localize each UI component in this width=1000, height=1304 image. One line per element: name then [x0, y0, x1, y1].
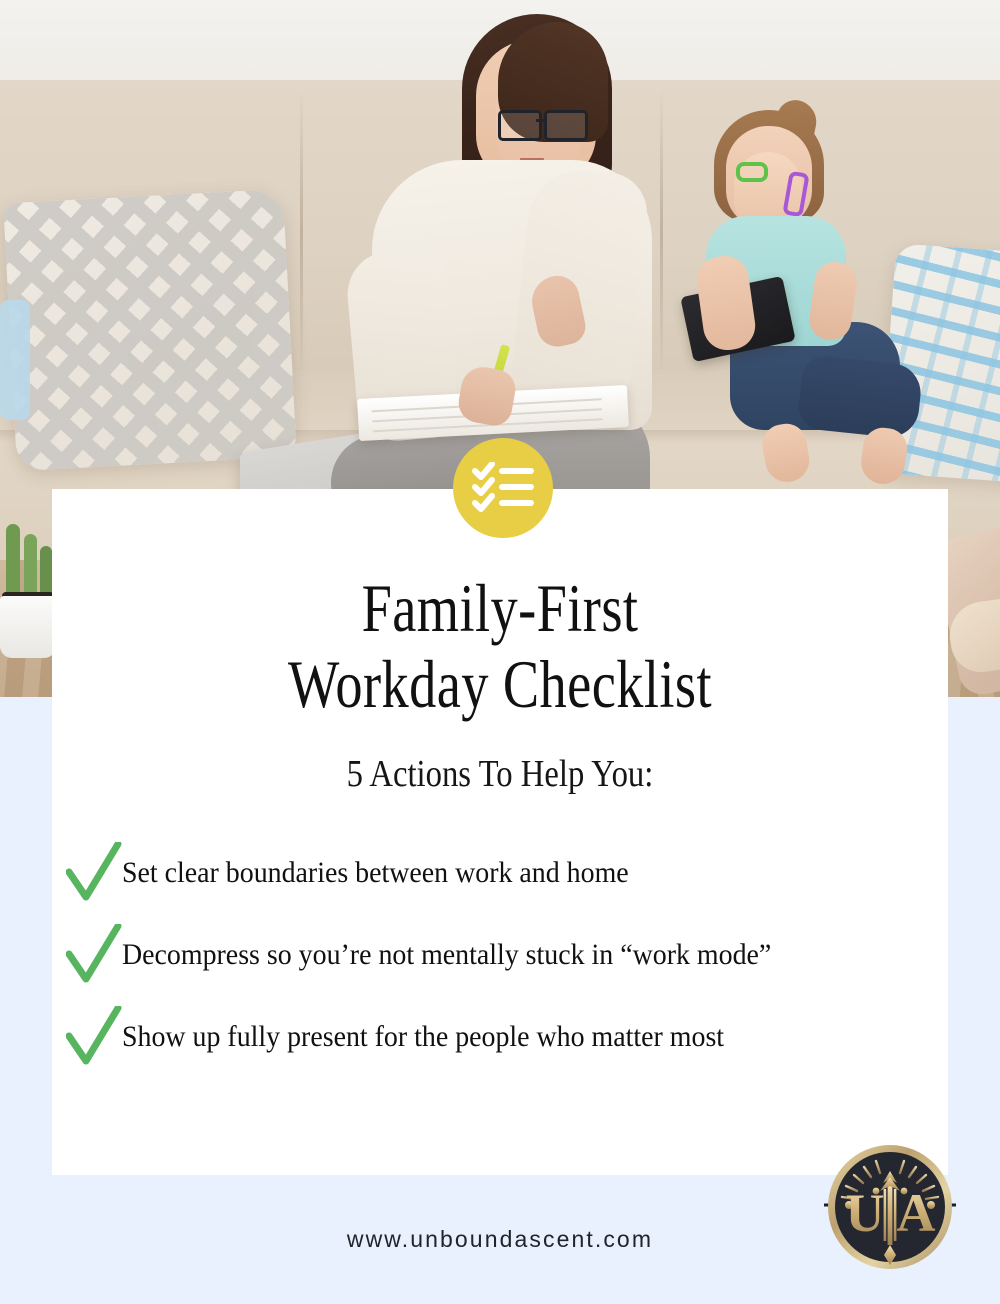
list-item: Show up fully present for the people who…: [66, 996, 952, 1078]
girl-jeans-lower: [796, 354, 923, 440]
eyeglasses-icon: [498, 110, 590, 136]
logo-letter-left: U: [846, 1183, 885, 1243]
chevron-pattern: [3, 189, 297, 471]
sofa-seam: [660, 88, 663, 378]
check-icon: [66, 842, 122, 904]
unbound-ascent-logo: U A: [824, 1139, 956, 1277]
list-item-label: Show up fully present for the people who…: [122, 1020, 724, 1054]
poster-canvas: Family-First Workday Checklist 5 Actions…: [0, 0, 1000, 1304]
checklist: Set clear boundaries between work and ho…: [66, 832, 952, 1078]
list-item: Set clear boundaries between work and ho…: [66, 832, 952, 914]
cactus-plant: [6, 524, 20, 602]
list-item-label: Decompress so you’re not mentally stuck …: [122, 938, 771, 972]
check-icon: [66, 924, 122, 986]
page-title: Family-First Workday Checklist: [142, 570, 859, 722]
blue-fabric-accent: [0, 300, 30, 420]
title-line-1: Family-First: [142, 570, 859, 646]
list-item: Decompress so you’re not mentally stuck …: [66, 914, 952, 996]
list-item-label: Set clear boundaries between work and ho…: [122, 856, 629, 890]
green-hair-clip: [736, 162, 768, 182]
title-line-2: Workday Checklist: [142, 646, 859, 722]
sofa-seam: [300, 88, 303, 378]
checklist-badge-icon: [453, 438, 553, 538]
page-subtitle: 5 Actions To Help You:: [115, 752, 886, 796]
chevron-pillow: [3, 189, 297, 471]
cactus-plant: [24, 534, 37, 600]
cactus-pot: [0, 596, 56, 658]
check-icon: [66, 1006, 122, 1068]
logo-letter-right: A: [897, 1183, 936, 1243]
